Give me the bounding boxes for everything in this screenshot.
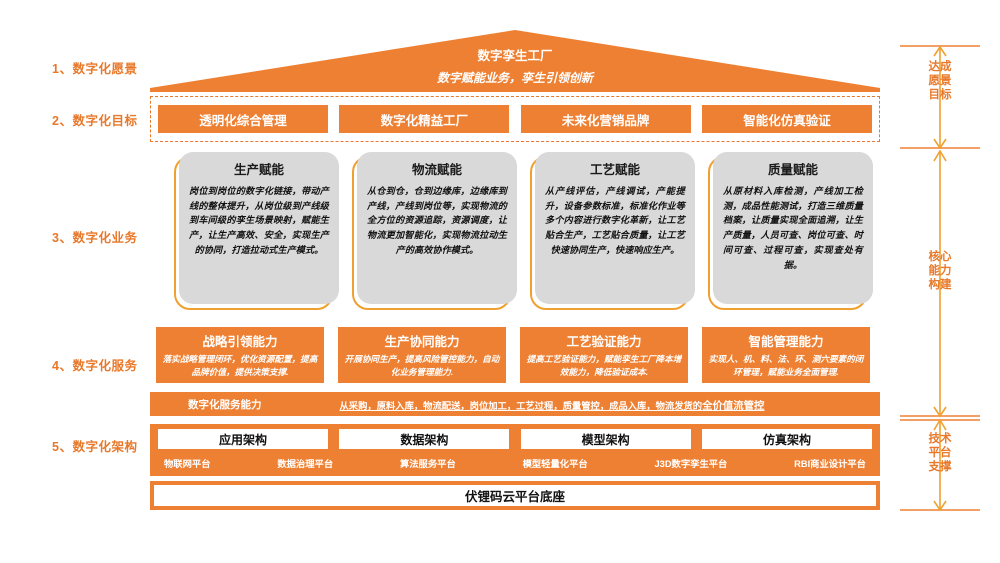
business-card-1[interactable]: 物流赋能 从仓到仓，仓到边缘库，边缘库到产线，产线到岗位等，实现物流的全方位的资… <box>352 152 517 312</box>
foundation-label[interactable]: 伏锂码云平台底座 <box>154 485 876 506</box>
goal-box-1[interactable]: 数字化精益工厂 <box>339 105 509 133</box>
service-title: 生产协同能力 <box>344 331 500 350</box>
annotation-line: 目标 <box>884 88 996 102</box>
architecture-box-3[interactable]: 仿真架构 <box>702 429 872 449</box>
card-desc: 从产线评估，产线调试，产能提升，设备参数标准，标准化作业等多个内容进行数字化革新… <box>545 184 685 258</box>
service-desc: 落实战略管理闭环，优化资源配置，提高品牌价值，提供决策支撑. <box>162 353 318 379</box>
service-desc: 开展协同生产，提高风险管控能力，自动化业务管理能力. <box>344 353 500 379</box>
service-card-3[interactable]: 智能管理能力 实现人、机、料、法、环、测六要素的闭环管理，赋能业务全面管理. <box>702 327 870 383</box>
business-card-3[interactable]: 质量赋能 从原材料入库检测，产线加工检测，成品性能测试，打造三维质量档案，让质量… <box>708 152 873 312</box>
service-desc: 提高工艺验证能力，赋能孪生工厂降本增效能力，降低验证成本. <box>526 353 682 379</box>
architecture-block: 应用架构 数据架构 模型架构 仿真架构 物联网平台 数据治理平台 算法服务平台 … <box>150 424 880 476</box>
annotation-line: 构建 <box>884 278 996 292</box>
card-body: 物流赋能 从仓到仓，仓到边缘库，边缘库到产线，产线到岗位等，实现物流的全方位的资… <box>357 152 517 304</box>
goal-box-2[interactable]: 未来化营销品牌 <box>521 105 691 133</box>
architecture-box-1[interactable]: 数据架构 <box>339 429 509 449</box>
annotation-line: 核心 <box>884 250 996 264</box>
service-desc: 实现人、机、料、法、环、测六要素的闭环管理，赋能业务全面管理. <box>708 353 864 379</box>
service-card-0[interactable]: 战略引领能力 落实战略管理闭环，优化资源配置，提高品牌价值，提供决策支撑. <box>156 327 324 383</box>
service-bar-text-prefix: 从采购，原料入库，物流配送，岗位加工，工艺过程，质量管控，成品入库，物流发货的 <box>340 401 703 411</box>
vision-title: 数字孪生工厂 <box>477 45 552 64</box>
annotation-vision-text: 达成 愿景 目标 <box>884 60 996 102</box>
platform-5[interactable]: RBI商业设计平台 <box>794 456 866 470</box>
service-title: 工艺验证能力 <box>526 331 682 350</box>
business-card-0[interactable]: 生产赋能 岗位到岗位的数字化链接，带动产线的整体提升，从岗位级到产线级到车间级的… <box>174 152 339 312</box>
row-label-vision: 1、数字化愿景 <box>52 58 137 77</box>
architecture-box-2[interactable]: 模型架构 <box>521 429 691 449</box>
platform-3[interactable]: 模型轻量化平台 <box>523 456 588 470</box>
card-body: 生产赋能 岗位到岗位的数字化链接，带动产线的整体提升，从岗位级到产线级到车间级的… <box>179 152 339 304</box>
annotation-line: 平台 <box>884 446 996 460</box>
annotation-line: 达成 <box>884 60 996 74</box>
card-title: 工艺赋能 <box>545 159 685 178</box>
service-card-2[interactable]: 工艺验证能力 提高工艺验证能力，赋能孪生工厂降本增效能力，降低验证成本. <box>520 327 688 383</box>
card-body: 质量赋能 从原材料入库检测，产线加工检测，成品性能测试，打造三维质量档案，让质量… <box>713 152 873 304</box>
goal-band: 透明化综合管理 数字化精益工厂 未来化营销品牌 智能化仿真验证 <box>150 96 880 142</box>
architecture-platform-row: 物联网平台 数据治理平台 算法服务平台 模型轻量化平台 J3D数字孪生平台 RB… <box>158 456 872 470</box>
service-card-row: 战略引领能力 落实战略管理闭环，优化资源配置，提高品牌价值，提供决策支撑. 生产… <box>150 327 880 387</box>
annotation-tech-text: 技术 平台 支撑 <box>884 432 996 474</box>
goal-box-0[interactable]: 透明化综合管理 <box>158 105 328 133</box>
goal-box-3[interactable]: 智能化仿真验证 <box>702 105 872 133</box>
card-title: 质量赋能 <box>723 159 863 178</box>
annotation-tech: 技术 平台 支撑 <box>884 418 996 512</box>
service-bar-label: 数字化服务能力 <box>188 397 262 412</box>
architecture-box-0[interactable]: 应用架构 <box>158 429 328 449</box>
row-label-business: 3、数字化业务 <box>52 227 137 246</box>
annotation-line: 愿景 <box>884 74 996 88</box>
annotation-vision: 达成 愿景 目标 <box>884 44 996 150</box>
platform-1[interactable]: 数据治理平台 <box>277 456 333 470</box>
service-title: 智能管理能力 <box>708 331 864 350</box>
card-title: 物流赋能 <box>367 159 507 178</box>
business-card-row: 生产赋能 岗位到岗位的数字化链接，带动产线的整体提升，从岗位级到产线级到车间级的… <box>150 152 880 318</box>
row-label-service: 4、数字化服务 <box>52 355 137 374</box>
platform-2[interactable]: 算法服务平台 <box>400 456 456 470</box>
service-card-1[interactable]: 生产协同能力 开展协同生产，提高风险管控能力，自动化业务管理能力. <box>338 327 506 383</box>
card-desc: 从仓到仓，仓到边缘库，边缘库到产线，产线到岗位等，实现物流的全方位的资源追踪，资… <box>367 184 507 258</box>
service-bar-text-strong: 全价值流管控 <box>702 401 764 412</box>
annotation-line: 支撑 <box>884 460 996 474</box>
vision-subtitle: 数字赋能业务，孪生引领创新 <box>437 69 593 86</box>
architecture-box-row: 应用架构 数据架构 模型架构 仿真架构 <box>158 429 872 449</box>
platform-0[interactable]: 物联网平台 <box>164 456 211 470</box>
card-body: 工艺赋能 从产线评估，产线调试，产能提升，设备参数标准，标准化作业等多个内容进行… <box>535 152 695 304</box>
annotation-line: 能力 <box>884 264 996 278</box>
platform-4[interactable]: J3D数字孪生平台 <box>655 456 728 470</box>
row-label-goal: 2、数字化目标 <box>52 110 137 129</box>
annotation-core-text: 核心 能力 构建 <box>884 250 996 292</box>
foundation-block: 伏锂码云平台底座 <box>150 481 880 510</box>
card-desc: 从原材料入库检测，产线加工检测，成品性能测试，打造三维质量档案，让质量实现全面追… <box>723 184 863 272</box>
card-title: 生产赋能 <box>189 159 329 178</box>
vision-pyramid: 数字孪生工厂 数字赋能业务，孪生引领创新 <box>150 30 880 92</box>
business-card-2[interactable]: 工艺赋能 从产线评估，产线调试，产能提升，设备参数标准，标准化作业等多个内容进行… <box>530 152 695 312</box>
diagram-canvas: 1、数字化愿景 2、数字化目标 3、数字化业务 4、数字化服务 5、数字化架构 … <box>0 0 1000 563</box>
row-label-architecture: 5、数字化架构 <box>52 436 137 455</box>
service-title: 战略引领能力 <box>162 331 318 350</box>
service-capability-bar: 数字化服务能力 从采购，原料入库，物流配送，岗位加工，工艺过程，质量管控，成品入… <box>150 392 880 416</box>
annotation-line: 技术 <box>884 432 996 446</box>
annotation-core: 核心 能力 构建 <box>884 150 996 418</box>
service-bar-text: 从采购，原料入库，物流配送，岗位加工，工艺过程，质量管控，成品入库，物流发货的全… <box>340 397 765 412</box>
card-desc: 岗位到岗位的数字化链接，带动产线的整体提升，从岗位级到产线级到车间级的孪生场景映… <box>189 184 329 258</box>
